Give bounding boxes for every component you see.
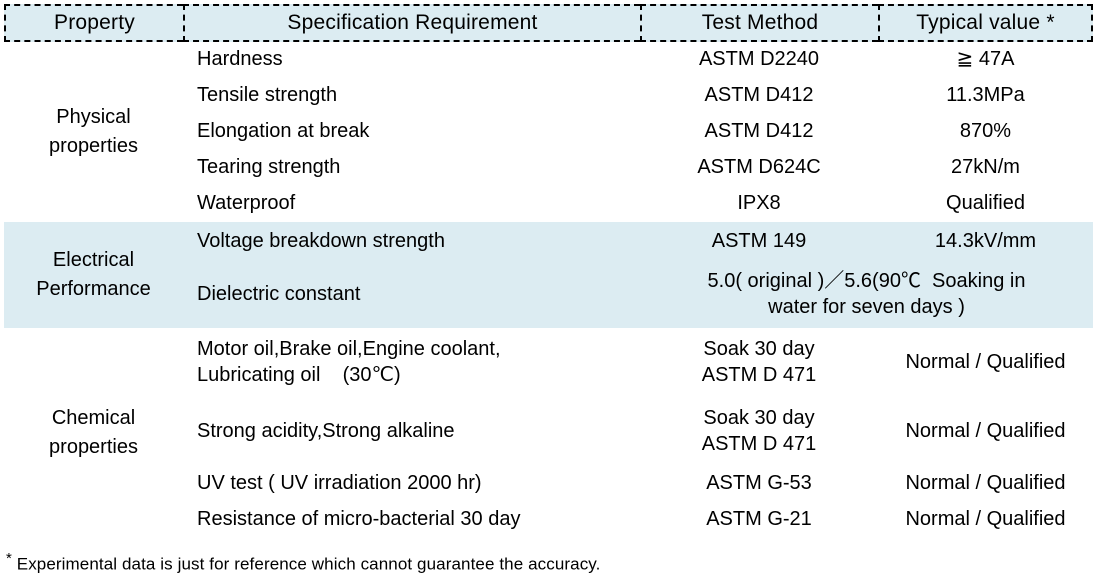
cell-specification: Strong acidity,Strong alkaline [183,397,640,466]
cell-method-and-typical-merged: 5.0( original )／5.6(90℃ Soaking in water… [640,262,1093,328]
table-row: Hardness ASTM D2240 ≧ 47A [183,42,1097,78]
cell-typical-value: Qualified [878,186,1093,222]
cell-test-method: IPX8 [640,186,878,222]
section-label-line-1: Physical [56,103,130,132]
cell-specification: Hardness [183,42,640,78]
cell-specification: Resistance of micro-bacterial 30 day [183,502,640,538]
column-header-property: Property [4,4,183,42]
section-chemical-properties: Chemical properties Motor oil,Brake oil,… [4,328,1093,538]
cell-typical-value: Normal / Qualified [878,466,1093,502]
cell-specification: Voltage breakdown strength [183,222,640,262]
section-label-line-2: properties [49,132,138,161]
cell-test-method-line-1: Soak 30 day [703,337,814,363]
cell-test-method: ASTM D2240 [640,42,878,78]
cell-typical-value: Normal / Qualified [878,502,1093,538]
section-label-line-1: Electrical [53,246,134,275]
cell-test-method: ASTM 149 [640,222,878,262]
cell-specification-line-2: Lubricating oil (30℃) [197,363,401,389]
table-row: UV test ( UV irradiation 2000 hr) ASTM G… [183,466,1097,502]
column-header-test-method-label: Test Method [702,11,819,35]
cell-specification: Tearing strength [183,150,640,186]
column-header-typical-value: Typical value * [878,4,1093,42]
column-header-specification: Specification Requirement [183,4,640,42]
cell-test-method: ASTM G-21 [640,502,878,538]
table-row: Elongation at break ASTM D412 870% [183,114,1097,150]
cell-typical-value: 27kN/m [878,150,1093,186]
cell-typical-value: 14.3kV/mm [878,222,1093,262]
section-physical-properties: Physical properties Hardness ASTM D2240 … [4,42,1093,222]
column-header-test-method: Test Method [640,4,878,42]
cell-test-method: ASTM D412 [640,78,878,114]
cell-specification-line-1: Motor oil,Brake oil,Engine coolant, [197,337,501,363]
column-header-property-label: Property [54,11,135,35]
table-row: Tensile strength ASTM D412 11.3MPa [183,78,1097,114]
cell-typical-value: Normal / Qualified [878,328,1093,397]
cell-test-method-line-2: ASTM D 471 [702,432,816,458]
cell-test-method: ASTM G-53 [640,466,878,502]
table-row: Dielectric constant 5.0( original )／5.6(… [183,262,1097,328]
section-label-electrical-performance: Electrical Performance [4,222,183,328]
table-row: Strong acidity,Strong alkaline Soak 30 d… [183,397,1097,466]
cell-test-method: Soak 30 day ASTM D 471 [640,328,878,397]
table-row: Voltage breakdown strength ASTM 149 14.3… [183,222,1097,262]
merged-value-line-2: water for seven days ) [768,295,965,321]
footnote-text: Experimental data is just for reference … [12,555,601,574]
cell-typical-value: 11.3MPa [878,78,1093,114]
section-label-physical-properties: Physical properties [4,42,183,222]
section-label-line-2: Performance [36,275,151,304]
table-row: Tearing strength ASTM D624C 27kN/m [183,150,1097,186]
specification-table: Property Specification Requirement Test … [0,0,1097,583]
section-label-line-1: Chemical [52,404,135,433]
cell-test-method-line-2: ASTM D 471 [702,363,816,389]
cell-test-method: Soak 30 day ASTM D 471 [640,397,878,466]
cell-test-method: ASTM D624C [640,150,878,186]
cell-specification: Waterproof [183,186,640,222]
cell-test-method-line-1: Soak 30 day [703,406,814,432]
section-electrical-performance: Electrical Performance Voltage breakdown… [4,222,1093,328]
table-row: Waterproof IPX8 Qualified [183,186,1097,222]
cell-specification-line-1: Strong acidity,Strong alkaline [197,419,455,445]
merged-value-line-1: 5.0( original )／5.6(90℃ Soaking in [708,269,1026,295]
section-label-chemical-properties: Chemical properties [4,328,183,538]
table-row: Resistance of micro-bacterial 30 day AST… [183,502,1097,538]
footnote: * Experimental data is just for referenc… [6,550,600,575]
cell-specification: UV test ( UV irradiation 2000 hr) [183,466,640,502]
section-label-line-2: properties [49,433,138,462]
cell-typical-value: ≧ 47A [878,42,1093,78]
cell-test-method: ASTM D412 [640,114,878,150]
table-header-row: Property Specification Requirement Test … [4,4,1093,42]
cell-specification: Motor oil,Brake oil,Engine coolant, Lubr… [183,328,640,397]
cell-specification: Tensile strength [183,78,640,114]
table-row: Motor oil,Brake oil,Engine coolant, Lubr… [183,328,1097,397]
cell-typical-value: 870% [878,114,1093,150]
cell-typical-value: Normal / Qualified [878,397,1093,466]
cell-specification: Dielectric constant [183,262,640,328]
cell-specification: Elongation at break [183,114,640,150]
column-header-typical-value-label: Typical value * [916,11,1054,35]
column-header-specification-label: Specification Requirement [287,11,537,35]
